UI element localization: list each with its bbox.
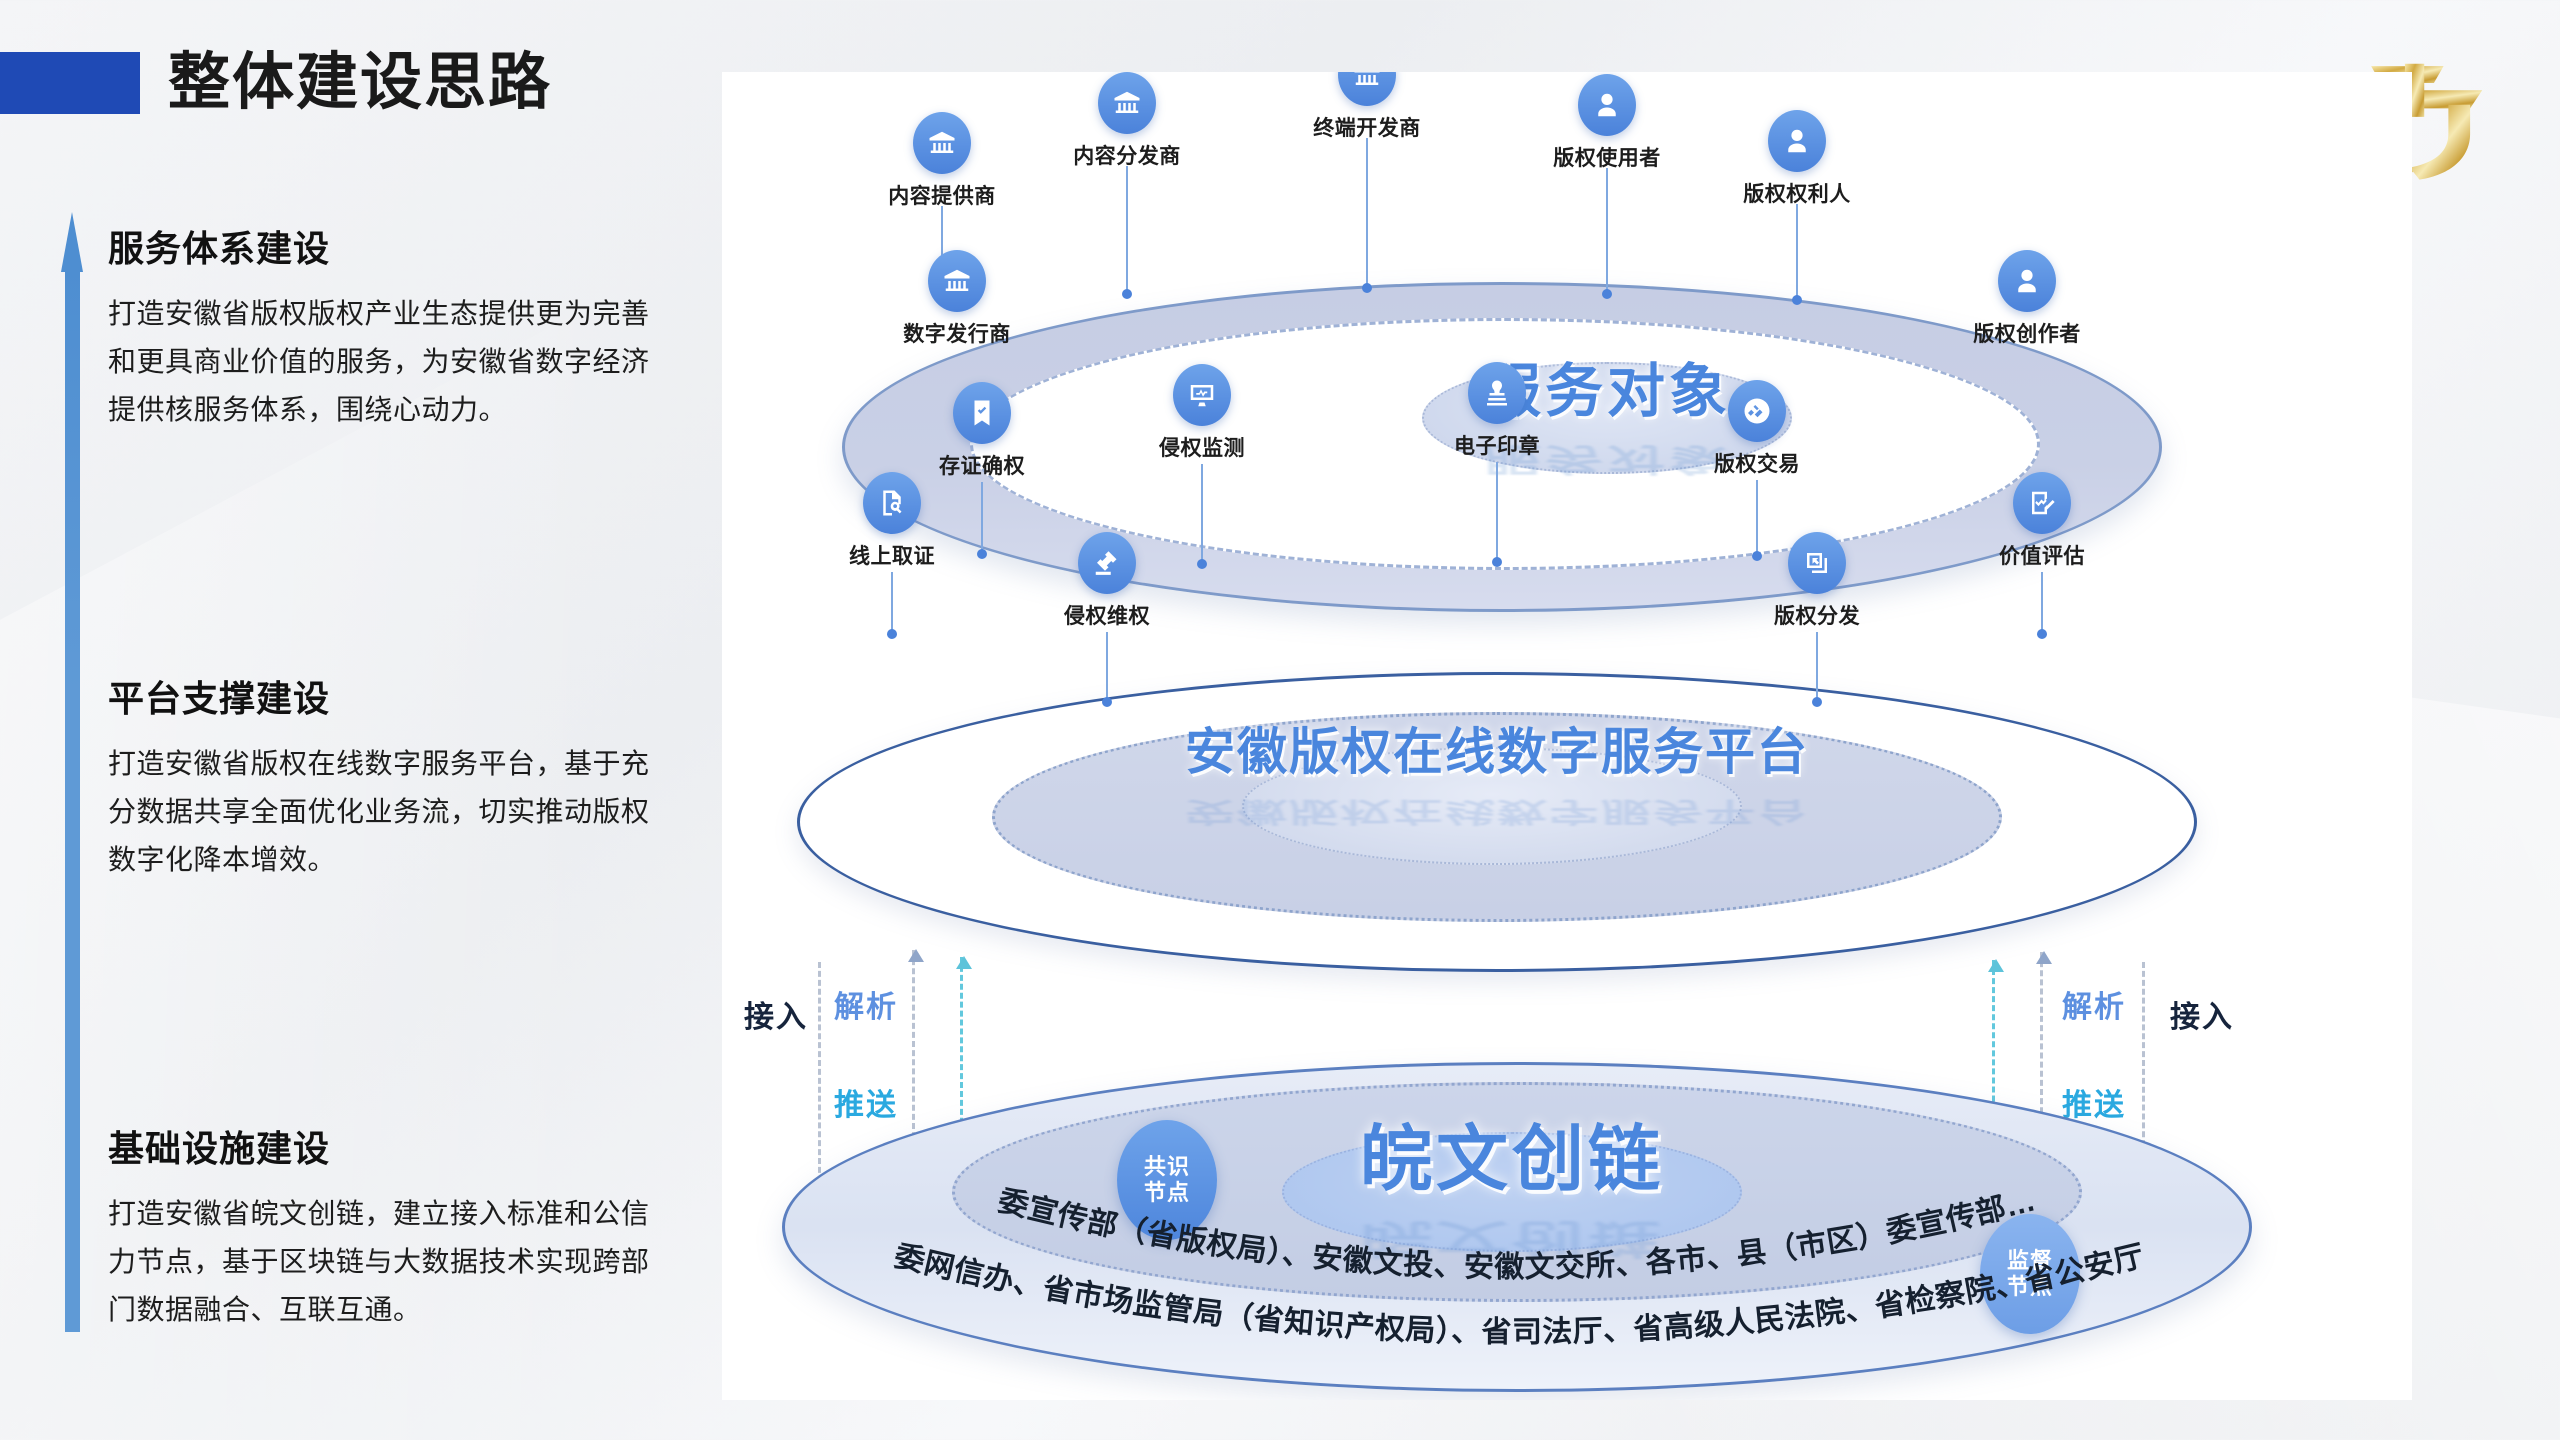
section-heading: 服务体系建设 — [108, 220, 668, 272]
flow-label-access-right: 接入 — [2170, 992, 2234, 1036]
section-heading: 基础设施建设 — [108, 1120, 668, 1172]
node-rights-protection[interactable]: 侵权维权 — [1032, 532, 1182, 630]
user-icon — [1578, 74, 1636, 136]
bank-icon — [1338, 72, 1396, 106]
node-stem — [1796, 204, 1798, 300]
node-terminal-developer[interactable]: 终端开发商 — [1292, 72, 1442, 142]
node-stem — [1606, 168, 1608, 294]
node-digital-publisher[interactable]: 数字发行商 — [882, 250, 1032, 348]
arrow-up-icon — [908, 949, 924, 962]
section-body: 打造安徽省版权版权产业生态提供更为完善和更具商业价值的服务，为安徽省数字经济提供… — [108, 290, 668, 434]
chain-participants-line-2: 省委网信办、省市场监管局（省知识产权局）、省司法厅、省高级人民法院、省检察院、省… — [767, 1036, 2148, 1349]
page-title: 整体建设思路 — [168, 52, 552, 114]
section-body: 打造安徽省版权在线数字服务平台，基于充分数据共享全面优化业务流，切实推动版权数字… — [108, 740, 668, 884]
stamp-icon — [1468, 362, 1526, 424]
handshake-icon — [1728, 380, 1786, 442]
node-stem — [891, 572, 893, 634]
edit-chart-icon — [2013, 472, 2071, 534]
flow-label-parse-left: 解析 — [834, 982, 898, 1026]
document-search-icon — [863, 472, 921, 534]
progress-arrow — [61, 212, 83, 1332]
node-label: 数字发行商 — [882, 318, 1032, 348]
arrow-head-icon — [61, 212, 83, 272]
flow-label-parse-right: 解析 — [2062, 982, 2126, 1026]
node-label: 版权交易 — [1682, 448, 1832, 478]
page-title-row: 整体建设思路 — [0, 52, 552, 114]
chain-participants: 省委宣传部（省版权局）、安徽文投、安徽文交所、各市、县（市区）委宣传部…… 省委… — [782, 1062, 2252, 1400]
user-icon — [1768, 110, 1826, 172]
node-label: 侵权监测 — [1127, 432, 1277, 462]
monitor-pulse-icon — [1173, 364, 1231, 426]
node-label: 版权分发 — [1742, 600, 1892, 630]
section-infrastructure: 基础设施建设 打造安徽省皖文创链，建立接入标准和公信力节点，基于区块链与大数据技… — [108, 1120, 668, 1334]
node-copyright-creator[interactable]: 版权创作者 — [1952, 250, 2102, 348]
bank-icon — [1098, 72, 1156, 134]
node-stem — [1201, 464, 1203, 564]
node-copyright-distribution[interactable]: 版权分发 — [1742, 532, 1892, 630]
section-service-system: 服务体系建设 打造安徽省版权版权产业生态提供更为完善和更具商业价值的服务，为安徽… — [108, 220, 668, 434]
section-heading: 平台支撑建设 — [108, 670, 668, 722]
node-infringement-monitoring[interactable]: 侵权监测 — [1127, 364, 1277, 462]
node-label: 价值评估 — [1967, 540, 2117, 570]
section-body: 打造安徽省皖文创链，建立接入标准和公信力节点，基于区块链与大数据技术实现跨部门数… — [108, 1190, 668, 1334]
platform-label: 安徽版权在线数字服务平台 — [1002, 712, 1992, 784]
node-electronic-seal[interactable]: 电子印章 — [1422, 362, 1572, 460]
node-stem — [1106, 632, 1108, 702]
node-label: 线上取证 — [817, 540, 967, 570]
node-copyright-owner[interactable]: 版权权利人 — [1722, 110, 1872, 208]
node-stem — [981, 482, 983, 554]
node-label: 侵权维权 — [1032, 600, 1182, 630]
node-stem — [2041, 572, 2043, 634]
title-accent-bar — [0, 52, 140, 114]
gavel-icon — [1078, 532, 1136, 594]
architecture-diagram: 服务对象 服务对象 内容提供商 内容分发商 终端开发商 版权使用者 版权权利 — [722, 72, 2412, 1400]
user-icon — [1998, 250, 2056, 312]
node-stem — [1366, 138, 1368, 288]
flow-label-access-left: 接入 — [744, 992, 808, 1036]
platform-label-reflection: 安徽版权在线数字服务平台 — [1002, 794, 1992, 834]
node-stem — [1816, 632, 1818, 702]
node-stem — [1496, 462, 1498, 562]
node-copyright-user[interactable]: 版权使用者 — [1532, 74, 1682, 172]
share-arrow-icon — [1788, 532, 1846, 594]
node-label: 电子印章 — [1422, 430, 1572, 460]
node-label: 版权创作者 — [1952, 318, 2102, 348]
chain-participants-line-1: 省委宣传部（省版权局）、安徽文投、安徽文交所、各市、县（市区）委宣传部…… — [767, 1036, 2039, 1284]
node-content-provider[interactable]: 内容提供商 — [867, 112, 1017, 210]
arrow-shaft — [65, 264, 80, 1332]
arrow-up-icon — [2036, 951, 2052, 964]
node-online-evidence[interactable]: 线上取证 — [817, 472, 967, 570]
arrow-up-icon — [1988, 959, 2004, 972]
bank-icon — [913, 112, 971, 174]
bank-icon — [928, 250, 986, 312]
node-evidence-certification[interactable]: 存证确权 — [907, 382, 1057, 480]
node-value-assessment[interactable]: 价值评估 — [1967, 472, 2117, 570]
certificate-check-icon — [953, 382, 1011, 444]
section-platform-support: 平台支撑建设 打造安徽省版权在线数字服务平台，基于充分数据共享全面优化业务流，切… — [108, 670, 668, 884]
node-copyright-trading[interactable]: 版权交易 — [1682, 380, 1832, 478]
arrow-up-icon — [956, 956, 972, 969]
node-stem — [1126, 166, 1128, 294]
node-content-distributor[interactable]: 内容分发商 — [1052, 72, 1202, 170]
